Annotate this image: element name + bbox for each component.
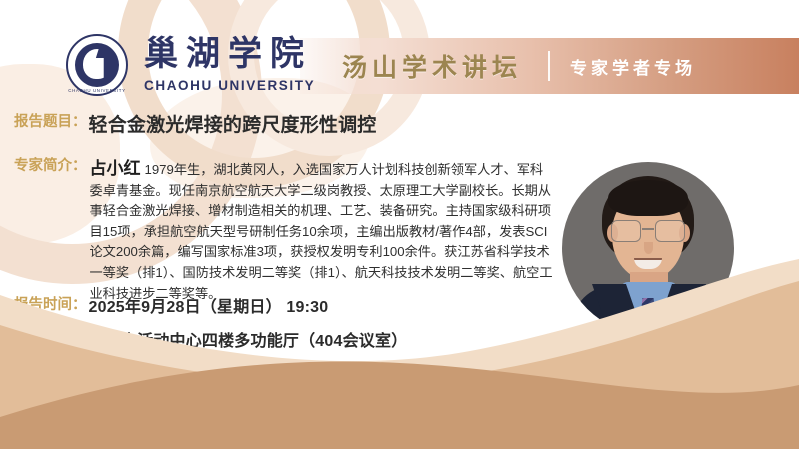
report-place-row: 报告地点： 大学生活动中心四楼多功能厅（404会议室）	[14, 327, 407, 351]
report-title-row: 报告题目： 轻合金激光焊接的跨尺度形性调控	[14, 110, 377, 137]
portrait-lens-right	[655, 220, 685, 242]
report-time-row: 报告时间： 2025年9月28日（星期日） 19:30	[14, 293, 328, 317]
banner-sub-title: 专家学者专场	[570, 54, 696, 79]
emblem-year: 1977	[68, 72, 126, 77]
banner-divider	[548, 51, 550, 81]
portrait-nose	[644, 242, 653, 254]
university-logo: 1977 CHAOHU UNIVERSITY 巢湖学院 CHAOHU UNIVE…	[66, 34, 315, 96]
speaker-bio-label: 专家简介：	[14, 154, 87, 175]
report-host-row: 主办单位： 科研处、机械工程学院	[14, 362, 251, 386]
header-banner: 汤山学术讲坛 专家学者专场	[300, 38, 799, 94]
report-time-label: 报告时间：	[14, 293, 87, 314]
university-emblem-icon: 1977 CHAOHU UNIVERSITY	[66, 34, 128, 96]
portrait-fringe	[608, 180, 688, 216]
report-host-label: 主办单位：	[14, 362, 87, 383]
university-name-en: CHAOHU UNIVERSITY	[144, 79, 315, 93]
portrait-glasses	[609, 220, 687, 242]
portrait-lens-left	[611, 220, 641, 242]
portrait-glasses-bridge	[642, 228, 654, 230]
speaker-name: 占小红	[90, 159, 141, 178]
university-name-cn: 巢湖学院	[144, 38, 315, 72]
speaker-bio-row: 专家简介： 占小红1979年生，湖北黄冈人，入选国家万人计划科技创新领军人才、军…	[14, 154, 554, 304]
report-time-value: 2025年9月28日（星期日） 19:30	[89, 293, 329, 317]
emblem-ring-text: CHAOHU UNIVERSITY	[67, 88, 128, 93]
speaker-bio-text: 1979年生，湖北黄冈人，入选国家万人计划科技创新领军人才、军科委卓青基金。现任…	[90, 162, 553, 301]
poster-root: 汤山学术讲坛 专家学者专场 1977 CHAOHU UNIVERSITY 巢湖学…	[0, 0, 799, 449]
report-title-label: 报告题目：	[14, 110, 87, 131]
speaker-portrait	[562, 162, 734, 334]
report-host-value: 科研处、机械工程学院	[89, 362, 251, 386]
report-place-value: 大学生活动中心四楼多功能厅（404会议室）	[89, 327, 408, 351]
banner-main-title: 汤山学术讲坛	[342, 48, 522, 84]
report-title-value: 轻合金激光焊接的跨尺度形性调控	[89, 110, 377, 137]
report-place-label: 报告地点：	[14, 327, 87, 348]
